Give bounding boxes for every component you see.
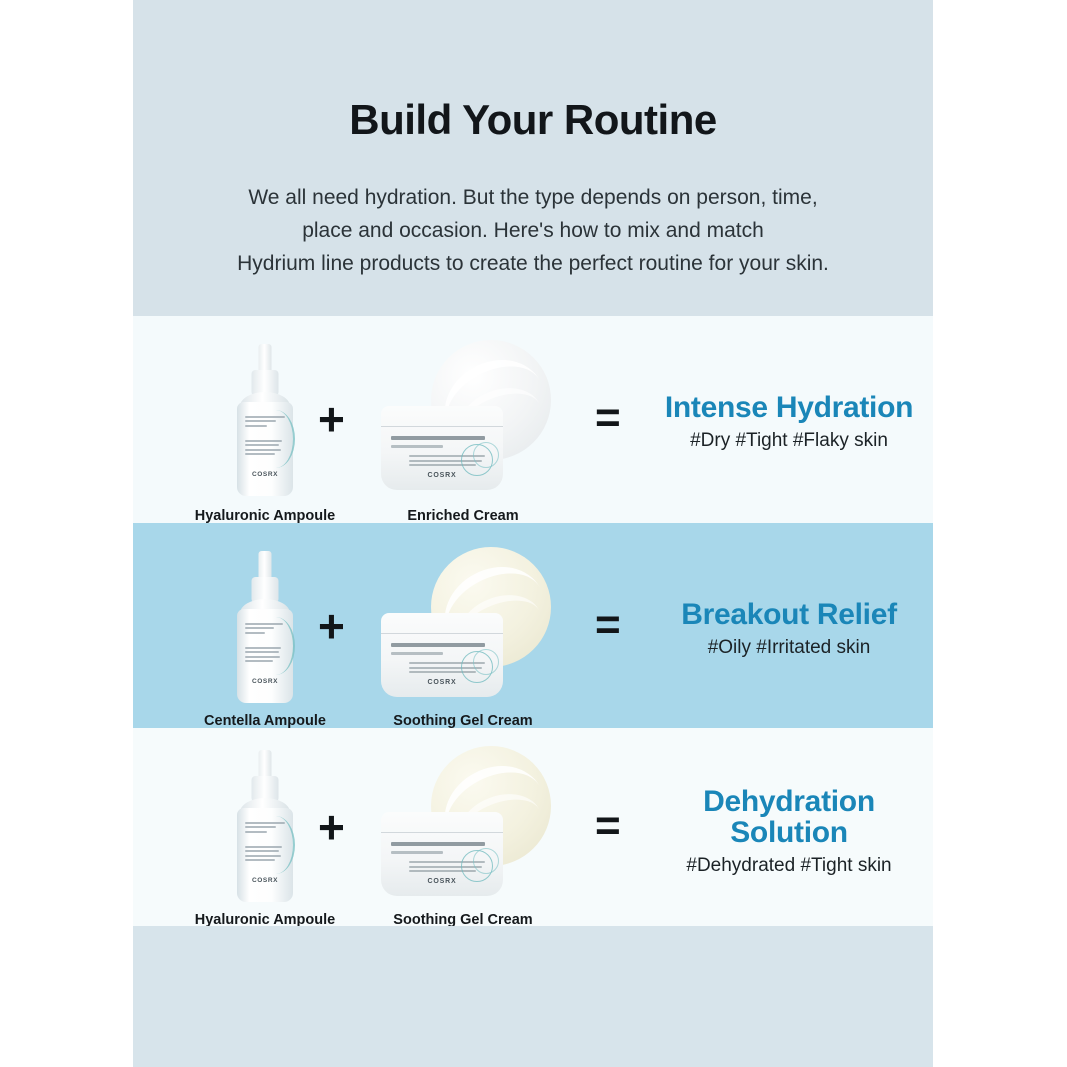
brand-text: COSRX bbox=[252, 877, 278, 884]
product-a-label-row1: Hyaluronic Ampoule bbox=[195, 508, 335, 524]
page-subtitle: We all need hydration. But the type depe… bbox=[133, 181, 933, 280]
page-title: Build Your Routine bbox=[133, 96, 933, 144]
product-a-image-row1: COSRX bbox=[229, 344, 301, 496]
bottle-label-lines bbox=[245, 822, 285, 835]
infographic-page: Build Your Routine We all need hydration… bbox=[0, 0, 1067, 1067]
equals-operator-row2: = bbox=[595, 603, 621, 647]
result-tags-row2: #Oily #Irritated skin bbox=[645, 637, 933, 659]
result-title-row3-line2: Solution bbox=[645, 817, 933, 848]
jar-body: COSRX bbox=[381, 613, 503, 697]
routine-row-3: COSRX Hyaluronic Ampoule + bbox=[133, 728, 933, 926]
header-band: Build Your Routine We all need hydration… bbox=[133, 0, 933, 316]
brand-text: COSRX bbox=[428, 878, 457, 885]
result-block-row1: Intense Hydration #Dry #Tight #Flaky ski… bbox=[645, 392, 933, 452]
product-a-image-row3: COSRX bbox=[229, 750, 301, 902]
jar-product-name-bar bbox=[391, 842, 485, 846]
plus-operator-row2: + bbox=[318, 603, 345, 649]
product-a-label-row2: Centella Ampoule bbox=[204, 713, 326, 729]
content-column: Build Your Routine We all need hydration… bbox=[133, 0, 933, 1067]
result-title-row1: Intense Hydration bbox=[645, 392, 933, 423]
jar-product-name-bar bbox=[391, 436, 485, 440]
ampoule-bottle-icon: COSRX bbox=[229, 551, 301, 703]
subtitle-line-2: place and occasion. Here's how to mix an… bbox=[133, 214, 933, 247]
cream-jar-icon: COSRX bbox=[381, 746, 553, 896]
cream-jar-icon: COSRX bbox=[381, 547, 553, 697]
routine-row-2: COSRX Centella Ampoule + bbox=[133, 523, 933, 728]
product-b-label-row2: Soothing Gel Cream bbox=[393, 713, 532, 729]
routine-row-1: COSRX Hyaluronic Ampoule + bbox=[133, 316, 933, 523]
brand-text: COSRX bbox=[252, 678, 278, 685]
ampoule-bottle-icon: COSRX bbox=[229, 750, 301, 902]
jar-body: COSRX bbox=[381, 406, 503, 490]
equals-operator-row3: = bbox=[595, 804, 621, 848]
brand-text: COSRX bbox=[252, 471, 278, 478]
product-b-image-row1: COSRX bbox=[381, 340, 553, 490]
subtitle-line-3: Hydrium line products to create the perf… bbox=[133, 247, 933, 280]
bottle-label-lines bbox=[245, 623, 285, 636]
equals-operator-row1: = bbox=[595, 396, 621, 440]
subtitle-line-1: We all need hydration. But the type depe… bbox=[133, 181, 933, 214]
bottle-label-lines-2 bbox=[245, 846, 285, 864]
product-b-image-row2: COSRX bbox=[381, 547, 553, 697]
product-b-label-row1: Enriched Cream bbox=[407, 508, 518, 524]
result-tags-row1: #Dry #Tight #Flaky skin bbox=[645, 430, 933, 452]
result-block-row3: Dehydration Solution #Dehydrated #Tight … bbox=[645, 786, 933, 877]
result-tags-row3: #Dehydrated #Tight skin bbox=[645, 855, 933, 877]
result-title-row3-line1: Dehydration bbox=[645, 786, 933, 817]
bottle-label-lines bbox=[245, 416, 285, 429]
jar-body: COSRX bbox=[381, 812, 503, 896]
bottle-label-lines-2 bbox=[245, 440, 285, 458]
plus-operator-row3: + bbox=[318, 804, 345, 850]
result-title-row2: Breakout Relief bbox=[645, 599, 933, 630]
brand-text: COSRX bbox=[428, 679, 457, 686]
ampoule-bottle-icon: COSRX bbox=[229, 344, 301, 496]
footer-band bbox=[133, 926, 933, 1067]
plus-operator-row1: + bbox=[318, 396, 345, 442]
bottle-label-lines-2 bbox=[245, 647, 285, 665]
cream-jar-icon: COSRX bbox=[381, 340, 553, 490]
product-b-image-row3: COSRX bbox=[381, 746, 553, 896]
brand-text: COSRX bbox=[428, 472, 457, 479]
product-a-image-row2: COSRX bbox=[229, 551, 301, 703]
jar-product-name-bar bbox=[391, 643, 485, 647]
result-block-row2: Breakout Relief #Oily #Irritated skin bbox=[645, 599, 933, 659]
